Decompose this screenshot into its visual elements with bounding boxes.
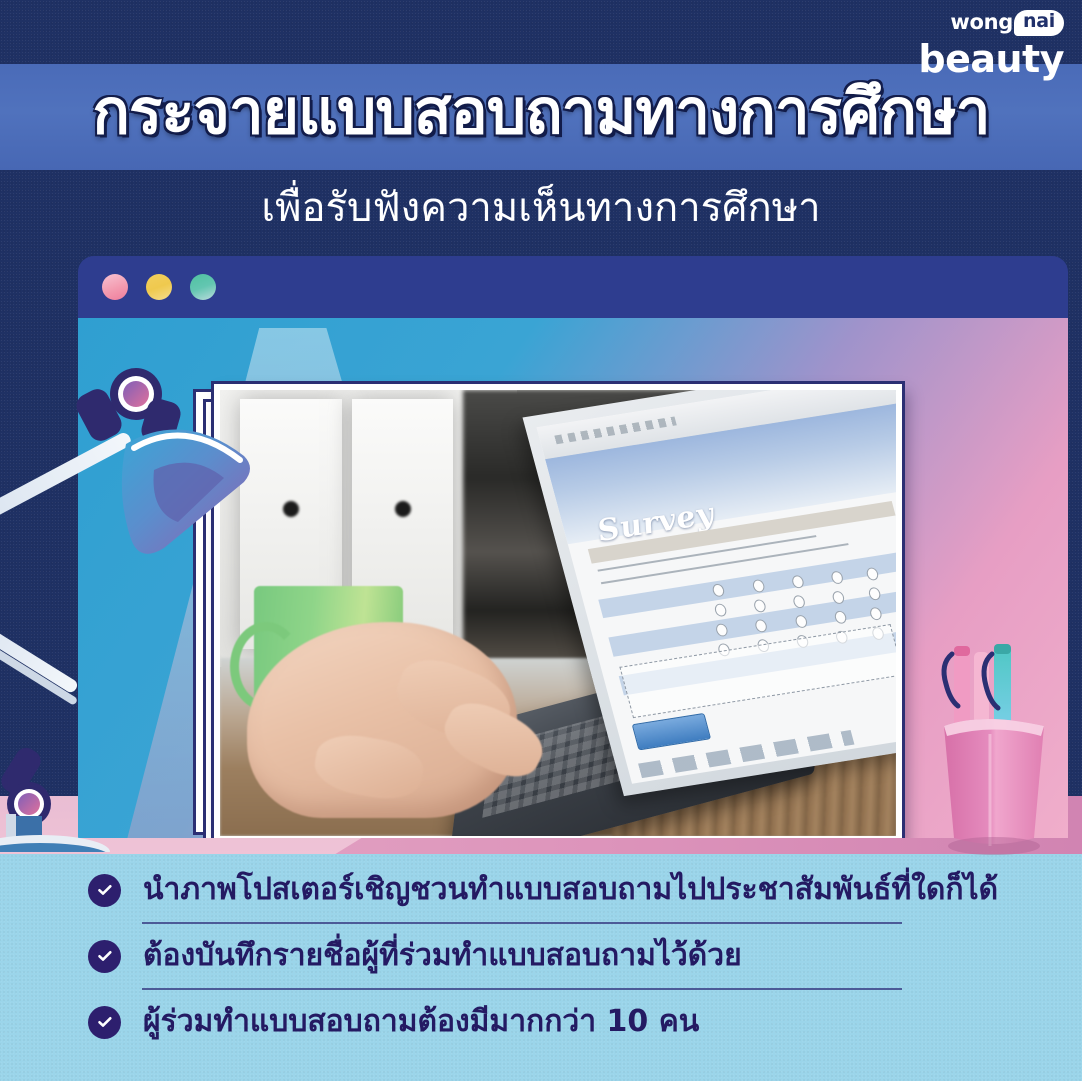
check-circle-icon (88, 874, 121, 907)
maximize-dot[interactable] (190, 274, 216, 300)
browser-title-bar (78, 256, 1068, 318)
check-circle-icon (88, 1006, 121, 1039)
desk-lamp-icon (0, 352, 288, 852)
bullet-label: ต้องบันทึกรายชื่อผู้ที่ร่วมทำแบบสอบถามไว… (143, 937, 742, 975)
pen-cup-icon (924, 630, 1074, 860)
photo-frame: Survey (214, 384, 902, 838)
logo-word: wong (950, 12, 1013, 33)
logo-beauty: beauty (918, 40, 1064, 78)
bullet-label: นำภาพโปสเตอร์เชิญชวนทำแบบสอบถามไปประชาสั… (143, 871, 998, 909)
bullet-list: นำภาพโปสเตอร์เชิญชวนทำแบบสอบถามไปประชาสั… (0, 858, 1082, 1054)
check-circle-icon (88, 940, 121, 973)
bullet-divider (142, 988, 902, 990)
logo-bubble: nai (1014, 10, 1064, 36)
list-item[interactable]: ผู้ร่วมทำแบบสอบถามต้องมีมากกว่า 10 คน (88, 990, 994, 1054)
close-dot[interactable] (102, 274, 128, 300)
page-title: กระจายแบบสอบถามทางการศึกษา (0, 76, 1082, 147)
survey-submit-button[interactable] (631, 713, 711, 751)
minimize-dot[interactable] (146, 274, 172, 300)
brand-logo: wongnai beauty (918, 10, 1064, 78)
window-controls (102, 274, 216, 300)
bullet-label: ผู้ร่วมทำแบบสอบถามต้องมีมากกว่า 10 คน (143, 1003, 699, 1041)
list-item[interactable]: ต้องบันทึกรายชื่อผู้ที่ร่วมทำแบบสอบถามไว… (88, 924, 994, 988)
page-subtitle: เพื่อรับฟังความเห็นทางการศึกษา (0, 184, 1082, 232)
poster-canvas: wongnai beauty กระจายแบบสอบถามทางการศึกษ… (0, 0, 1082, 1081)
logo-wongnai: wongnai (918, 10, 1064, 36)
bullet-divider (142, 922, 902, 924)
list-item[interactable]: นำภาพโปสเตอร์เชิญชวนทำแบบสอบถามไปประชาสั… (88, 858, 994, 922)
laptop-survey-photo: Survey (220, 390, 896, 836)
